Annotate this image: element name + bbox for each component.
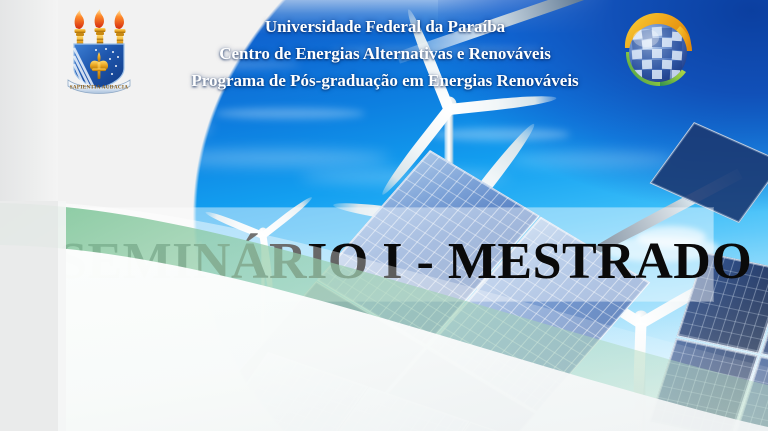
crest-svg: SAPIENTIA AUDACIA bbox=[60, 6, 138, 98]
header-text-block: Universidade Federal da Paraíba Centro d… bbox=[150, 14, 620, 94]
cloud-icon bbox=[160, 150, 390, 166]
globe-highlight bbox=[633, 29, 659, 47]
sweep-margin-edge bbox=[58, 201, 66, 431]
torch-icon bbox=[95, 9, 106, 48]
header-line-program: Programa de Pós-graduação em Energias Re… bbox=[150, 67, 620, 94]
bottom-sweep-decoration bbox=[0, 201, 768, 431]
sweep-left-margin bbox=[0, 201, 58, 431]
crest-motto-text: SAPIENTIA AUDACIA bbox=[70, 85, 129, 91]
sweep-svg bbox=[0, 201, 768, 431]
globe-svg bbox=[608, 4, 704, 100]
header-line-center: Centro de Energias Alternativas e Renová… bbox=[150, 40, 620, 67]
torch-icon bbox=[115, 10, 126, 48]
torch-icon bbox=[75, 10, 86, 48]
cloud-icon bbox=[20, 118, 210, 136]
cloud-icon bbox=[215, 108, 365, 119]
presentation-slide: Universidade Federal da Paraíba Centro d… bbox=[0, 0, 768, 431]
cloud-icon bbox=[70, 136, 190, 146]
header-line-university: Universidade Federal da Paraíba bbox=[150, 14, 620, 40]
cloud-icon bbox=[505, 152, 675, 167]
ceear-globe-logo bbox=[608, 4, 704, 100]
ufpb-crest-logo: SAPIENTIA AUDACIA bbox=[60, 6, 138, 98]
